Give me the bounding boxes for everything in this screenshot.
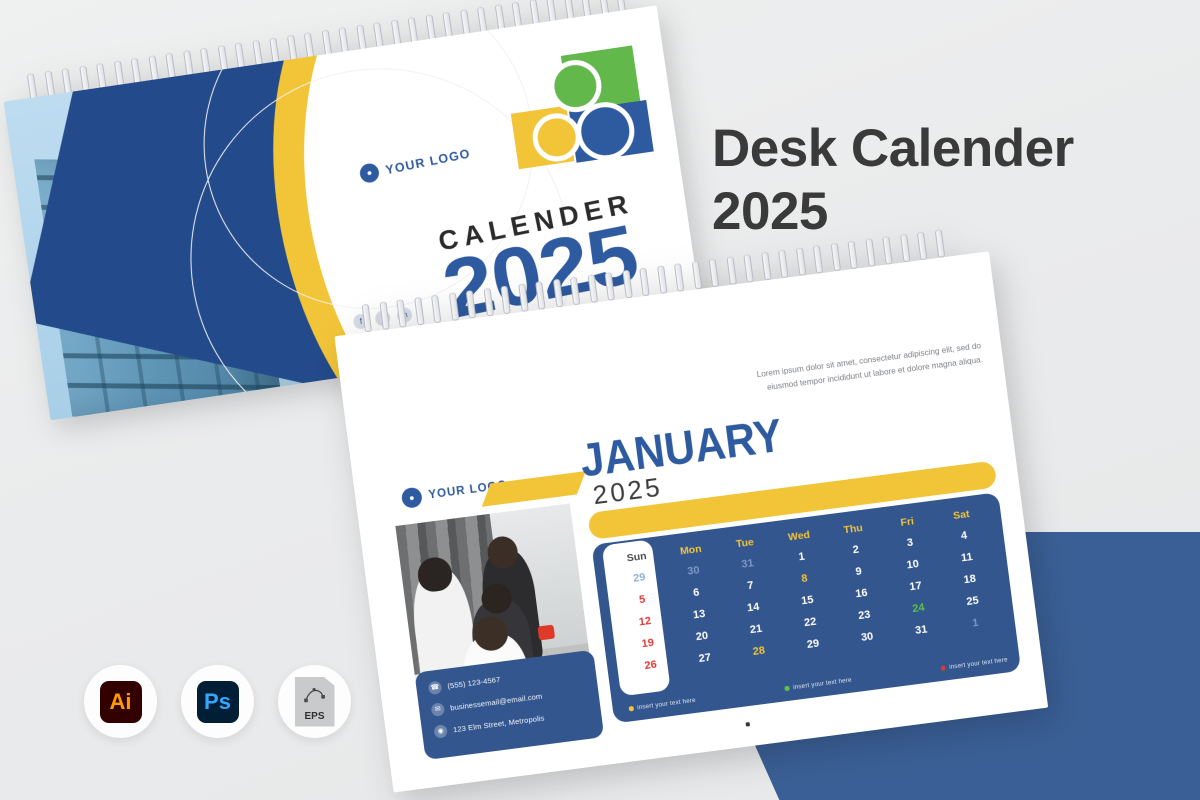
legend-dot-icon <box>629 706 634 711</box>
circle-logo-icon: ● <box>401 487 423 509</box>
mail-icon: ✉ <box>431 702 446 717</box>
legend-item: insert your text here <box>784 677 852 693</box>
page-marker-dot <box>746 722 750 726</box>
poster-title-line-1: Desk Calender <box>712 118 1172 181</box>
file-format-badges: Ai Ps EPS <box>84 665 351 738</box>
photoshop-icon: Ps <box>197 681 239 723</box>
january-page-surface: Lorem ipsum dolor sit amet, consectetur … <box>334 251 1048 792</box>
illustrator-icon: Ai <box>100 681 142 723</box>
legend-label: insert your text here <box>637 697 696 712</box>
contact-text: (555) 123-4567 <box>447 675 501 691</box>
month-title: JANUARY <box>577 408 785 488</box>
brand-geometric-logo <box>499 42 660 172</box>
poster-title-line-2: 2025 <box>712 181 1172 244</box>
contact-text: 123 Elm Street, Metropolis <box>453 714 545 735</box>
eps-label: EPS <box>304 711 324 722</box>
legend-dot-icon <box>941 666 946 671</box>
badge-illustrator[interactable]: Ai <box>84 665 157 738</box>
badge-photoshop[interactable]: Ps <box>181 665 254 738</box>
poster-canvas: ● YOUR LOGO CALENDER 2025 Lorem ipsum do… <box>0 0 1200 800</box>
pen-tool-icon <box>304 686 326 704</box>
poster-title-block: Desk Calender 2025 <box>712 118 1172 243</box>
phone-icon: ☎ <box>428 681 443 696</box>
january-lorem-text: Lorem ipsum dolor sit amet, consectetur … <box>750 339 984 396</box>
badge-eps[interactable]: EPS <box>278 665 351 738</box>
legend-label: insert your text here <box>949 656 1008 671</box>
january-page-mockup: Lorem ipsum dolor sit amet, consectetur … <box>331 222 1050 800</box>
legend-dot-icon <box>785 686 790 691</box>
legend-item: insert your text here <box>940 656 1008 672</box>
contact-text: businessemail@email.com <box>450 692 543 713</box>
legend-label: insert your text here <box>793 677 852 692</box>
circle-logo-icon: ● <box>358 162 380 184</box>
eps-file-icon: EPS <box>295 677 335 727</box>
legend-item: insert your text here <box>628 697 696 713</box>
pin-icon: ◉ <box>433 724 448 739</box>
